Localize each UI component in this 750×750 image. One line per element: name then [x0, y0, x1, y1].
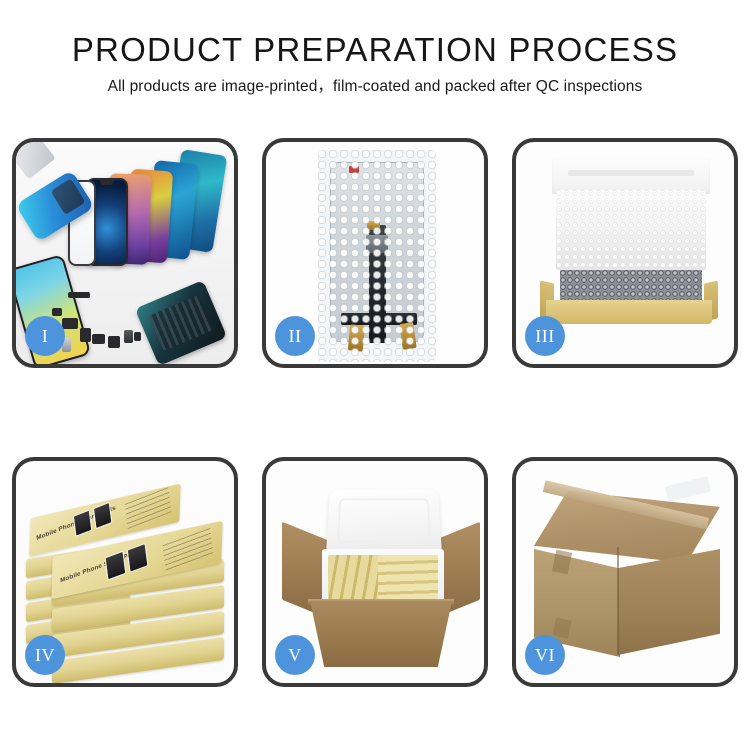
step-badge-2: II: [275, 316, 315, 356]
spare-part-icon: [80, 328, 91, 342]
lcd-panel-icon: [330, 162, 424, 342]
process-step-panel-5: V: [262, 457, 488, 687]
spare-part-icon: [92, 334, 105, 344]
screen-artwork-icon: [93, 502, 113, 530]
step-badge-5: V: [275, 635, 315, 675]
step-badge-4: IV: [25, 635, 65, 675]
box-front-face: [546, 300, 712, 324]
process-step-panel-2: II: [262, 138, 488, 368]
grey-foam-pad-icon: [560, 270, 702, 302]
screen-artwork-icon: [127, 543, 149, 573]
tape-end-icon: [665, 476, 712, 502]
spare-part-icon: [52, 308, 62, 316]
box-lid-icon: [552, 158, 710, 194]
lcd-bottom-strip: [341, 313, 417, 325]
battery-icon: [124, 330, 133, 343]
screen-artwork-icon: [105, 551, 127, 581]
spare-part-icon: [62, 318, 78, 329]
gold-connector-icon: [348, 324, 366, 351]
spec-text-lines: [125, 487, 172, 529]
process-step-panel-4: Mobile Phone Spare Parts Mobile Phone Sp…: [12, 457, 238, 687]
process-step-panel-3: III: [512, 138, 738, 368]
spare-part-icon: [68, 292, 90, 298]
carton-edge: [617, 547, 619, 655]
step-badge-1: I: [25, 316, 65, 356]
header: PRODUCT PREPARATION PROCESS All products…: [0, 0, 750, 98]
carton-side-face: [618, 549, 720, 655]
page-title: PRODUCT PREPARATION PROCESS: [0, 30, 750, 70]
process-step-grid: I II: [12, 138, 738, 687]
step-badge-6: VI: [525, 635, 565, 675]
lcd-driver-ic-icon: [366, 235, 388, 253]
page-subtitle: All products are image-printed，film-coat…: [0, 76, 750, 98]
lcd-flex-cable-icon: [369, 225, 386, 343]
carton-body: [310, 601, 452, 667]
red-label-icon: [349, 166, 359, 173]
gold-connector-icon: [367, 221, 380, 230]
process-step-panel-1: I: [12, 138, 238, 368]
screen-artwork-icon: [73, 509, 93, 537]
camera-module-icon: [108, 336, 120, 348]
step-badge-3: III: [525, 316, 565, 356]
process-step-panel-6: VI: [512, 457, 738, 687]
yellow-boxes-inside-icon: [378, 555, 438, 599]
foam-lid-icon: [326, 489, 442, 557]
white-foam-icon: [556, 190, 706, 270]
gold-connector-icon: [399, 322, 416, 350]
bubble-wrap-bag-icon: [318, 150, 436, 362]
product-preparation-infographic: PRODUCT PREPARATION PROCESS All products…: [0, 0, 750, 750]
spec-text-lines: [162, 528, 213, 573]
spare-part-icon: [134, 332, 141, 341]
